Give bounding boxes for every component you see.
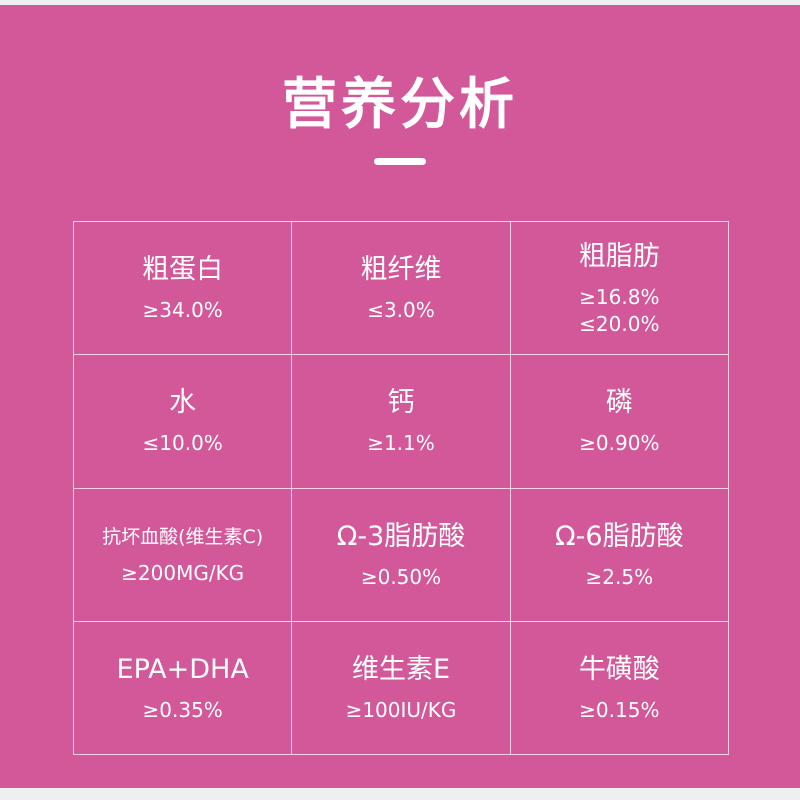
nutrient-cell-vitamin-e: 维生素E ≥100IU/KG bbox=[292, 622, 510, 754]
nutrient-label: Ω-6脂肪酸 bbox=[555, 520, 684, 554]
nutrient-label: 抗坏血酸(维生素C) bbox=[102, 524, 263, 550]
nutrient-label: 水 bbox=[169, 386, 196, 420]
nutrition-poster: 营养分析 粗蛋白 ≥34.0% 粗纤维 ≤3.0% 粗脂肪 ≥16.8% ≤20… bbox=[0, 5, 800, 788]
nutrient-label: EPA+DHA bbox=[117, 653, 249, 687]
nutrient-label: 牛磺酸 bbox=[579, 653, 660, 687]
nutrient-cell-epa-dha: EPA+DHA ≥0.35% bbox=[74, 622, 292, 754]
nutrient-value: ≥1.1% bbox=[367, 430, 435, 456]
table-row: EPA+DHA ≥0.35% 维生素E ≥100IU/KG 牛磺酸 ≥0.15% bbox=[74, 622, 728, 754]
nutrient-value: ≥0.35% bbox=[143, 697, 223, 723]
nutrient-cell-phosphorus: 磷 ≥0.90% bbox=[511, 355, 728, 487]
nutrient-label: 粗脂肪 bbox=[579, 240, 660, 274]
nutrient-cell-crude-fat: 粗脂肪 ≥16.8% ≤20.0% bbox=[511, 222, 728, 354]
nutrient-label: 粗蛋白 bbox=[142, 253, 223, 287]
nutrient-value: ≥0.15% bbox=[579, 697, 659, 723]
nutrition-analysis-table: 粗蛋白 ≥34.0% 粗纤维 ≤3.0% 粗脂肪 ≥16.8% ≤20.0% 水… bbox=[73, 221, 729, 755]
nutrient-cell-omega-3: Ω-3脂肪酸 ≥0.50% bbox=[292, 489, 510, 621]
nutrient-cell-water: 水 ≤10.0% bbox=[74, 355, 292, 487]
nutrient-value: ≥34.0% bbox=[143, 297, 223, 323]
nutrient-cell-omega-6: Ω-6脂肪酸 ≥2.5% bbox=[511, 489, 728, 621]
nutrient-value-secondary: ≤20.0% bbox=[579, 311, 659, 337]
nutrient-value: ≥0.50% bbox=[361, 564, 441, 590]
nutrient-cell-crude-protein: 粗蛋白 ≥34.0% bbox=[74, 222, 292, 354]
nutrient-label: 维生素E bbox=[352, 653, 450, 687]
nutrient-value: ≥0.90% bbox=[579, 430, 659, 456]
nutrient-cell-vitamin-c: 抗坏血酸(维生素C) ≥200MG/KG bbox=[74, 489, 292, 621]
nutrient-value: ≥100IU/KG bbox=[346, 697, 457, 723]
nutrient-value: ≤3.0% bbox=[367, 297, 435, 323]
page-title: 营养分析 bbox=[0, 5, 800, 135]
nutrient-label: 磷 bbox=[606, 386, 633, 420]
nutrient-value: ≥200MG/KG bbox=[121, 560, 244, 586]
nutrient-label: Ω-3脂肪酸 bbox=[337, 520, 466, 554]
nutrient-label: 粗纤维 bbox=[360, 253, 441, 287]
poster-header: 营养分析 bbox=[0, 5, 800, 165]
table-row: 粗蛋白 ≥34.0% 粗纤维 ≤3.0% 粗脂肪 ≥16.8% ≤20.0% bbox=[74, 222, 728, 355]
nutrient-label: 钙 bbox=[387, 386, 414, 420]
table-row: 水 ≤10.0% 钙 ≥1.1% 磷 ≥0.90% bbox=[74, 355, 728, 488]
nutrient-value: ≥2.5% bbox=[586, 564, 654, 590]
title-divider bbox=[374, 158, 426, 165]
nutrient-cell-calcium: 钙 ≥1.1% bbox=[292, 355, 510, 487]
nutrient-cell-crude-fiber: 粗纤维 ≤3.0% bbox=[292, 222, 510, 354]
table-row: 抗坏血酸(维生素C) ≥200MG/KG Ω-3脂肪酸 ≥0.50% Ω-6脂肪… bbox=[74, 489, 728, 622]
nutrient-value: ≤10.0% bbox=[143, 430, 223, 456]
nutrient-cell-taurine: 牛磺酸 ≥0.15% bbox=[511, 622, 728, 754]
nutrient-value: ≥16.8% bbox=[579, 284, 659, 310]
